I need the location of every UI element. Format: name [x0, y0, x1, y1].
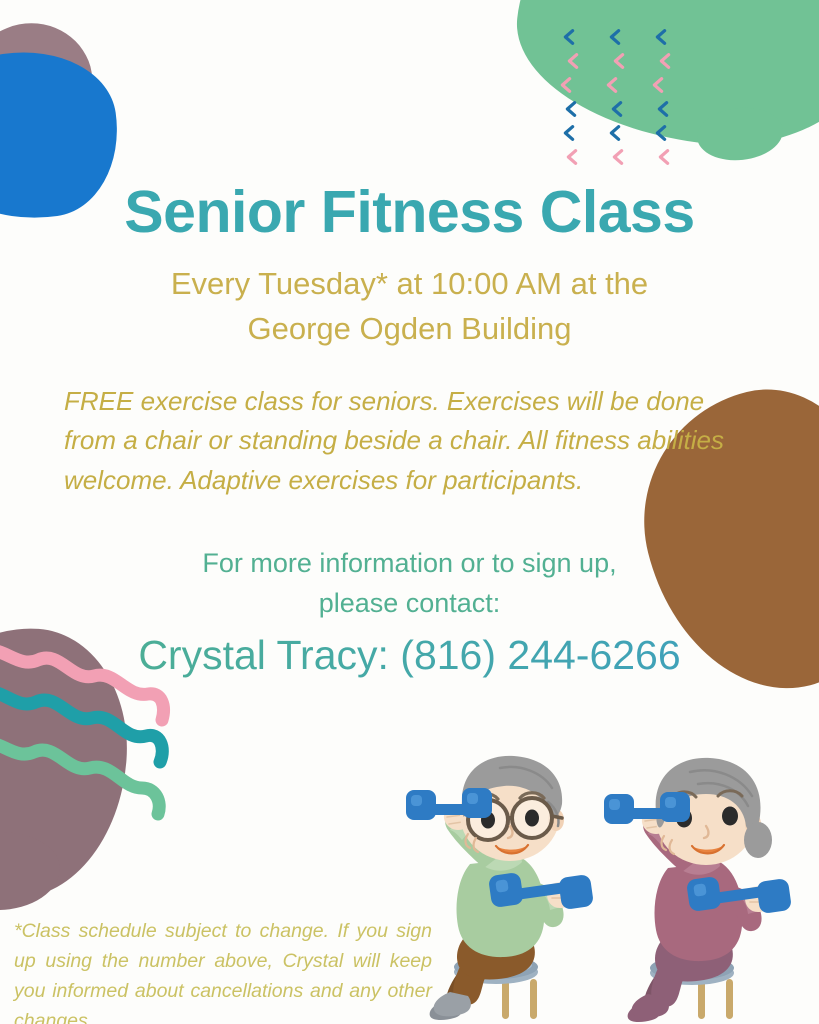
body-description: FREE exercise class for seniors. Exercis…	[64, 382, 744, 501]
contact-lead-line-1: For more information or to sign up,	[100, 544, 720, 583]
subtitle-block: Every Tuesday* at 10:00 AM at the George…	[110, 262, 710, 352]
contact-lead-block: For more information or to sign up, plea…	[100, 544, 720, 622]
subtitle-line-1: Every Tuesday* at 10:00 AM at the	[110, 262, 710, 307]
decor-blob-bottom-left-mauve-lobe	[0, 832, 60, 910]
poster-content: Senior Fitness Class Every Tuesday* at 1…	[0, 0, 819, 680]
page-title: Senior Fitness Class	[0, 0, 819, 244]
poster-canvas: Senior Fitness Class Every Tuesday* at 1…	[0, 0, 819, 1024]
illustration-woman	[604, 758, 792, 1022]
subtitle-line-2: George Ogden Building	[110, 307, 710, 352]
illustration-man	[406, 756, 594, 1020]
footnote-disclaimer: *Class schedule subject to change. If yo…	[14, 916, 432, 1024]
senior-exercise-illustration	[402, 726, 819, 1024]
contact-name-phone: Crystal Tracy: (816) 244-6266	[20, 631, 800, 680]
contact-lead-line-2: please contact:	[100, 584, 720, 623]
